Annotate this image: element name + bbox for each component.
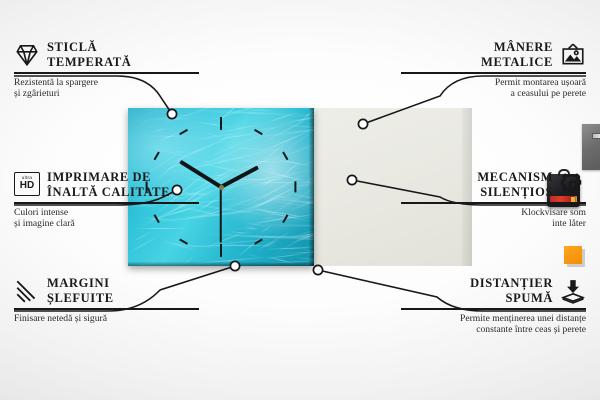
callout-title: IMPRIMARE DE ÎNALTĂ CALITATE <box>47 170 170 199</box>
callout-head: MECANISM SILENȚIOS <box>401 170 586 199</box>
callout-rule <box>14 72 199 74</box>
callout-title: MARGINI ȘLEFUITE <box>47 276 114 305</box>
feature-callout-silent: MECANISM SILENȚIOS Klockvisare som inte … <box>401 170 586 230</box>
gear-icon <box>560 172 586 198</box>
picture-frame-hanger-icon <box>560 42 586 68</box>
callout-desc: Permit montarea ușoară a ceasului pe per… <box>401 77 586 100</box>
callout-head: MÂNERE METALICE <box>401 40 586 69</box>
callout-title: STICLĂ TEMPERATĂ <box>47 40 131 69</box>
callout-desc: Finisare netedă și sigură <box>14 313 199 325</box>
clock-hub <box>219 185 224 190</box>
callout-rule <box>401 202 586 204</box>
callout-head: ultra HD IMPRIMARE DE ÎNALTĂ CALITATE <box>14 170 199 199</box>
clock-edge-bottom <box>128 262 314 266</box>
callout-rule <box>401 308 586 310</box>
callout-desc: Klockvisare som inte låter <box>401 207 586 230</box>
diamond-icon <box>14 42 40 68</box>
callout-head: STICLĂ TEMPERATĂ <box>14 40 199 69</box>
callout-head: MARGINI ȘLEFUITE <box>14 276 199 305</box>
feature-callout-glass: STICLĂ TEMPERATĂ Rezistentă la spargere … <box>14 40 199 100</box>
callout-desc: Permite menținerea unei distanțe constan… <box>401 313 586 336</box>
feature-callout-print: ultra HD IMPRIMARE DE ÎNALTĂ CALITATE Cu… <box>14 170 199 230</box>
callout-desc: Rezistentă la spargere și zgârieturi <box>14 77 199 100</box>
feature-callout-edges: MARGINI ȘLEFUITE Finisare netedă și sigu… <box>14 276 199 324</box>
callout-title: MÂNERE METALICE <box>481 40 553 69</box>
foam-spacer-part <box>564 246 582 264</box>
callout-rule <box>14 202 199 204</box>
callout-title: MECANISM SILENȚIOS <box>477 170 553 199</box>
callout-rule <box>14 308 199 310</box>
hanger-slot <box>592 133 600 139</box>
callout-desc: Culori intense și imagine clară <box>14 207 199 230</box>
ultra-hd-icon: ultra HD <box>14 172 40 198</box>
callout-title: DISTANȚIER SPUMĂ <box>470 276 553 305</box>
clock-edge-right <box>309 108 314 266</box>
foam-spacer-icon <box>560 278 586 304</box>
second-hand <box>220 187 222 243</box>
feature-callout-handles: MÂNERE METALICE Permit montarea ușoară a… <box>401 40 586 100</box>
callout-rule <box>401 72 586 74</box>
metal-hanger-part <box>582 124 600 170</box>
polished-edges-icon <box>14 278 40 304</box>
feature-callout-spacer: DISTANȚIER SPUMĂ Permite menținerea unei… <box>401 276 586 336</box>
leader-dot-spacer <box>313 265 322 274</box>
callout-head: DISTANȚIER SPUMĂ <box>401 276 586 305</box>
